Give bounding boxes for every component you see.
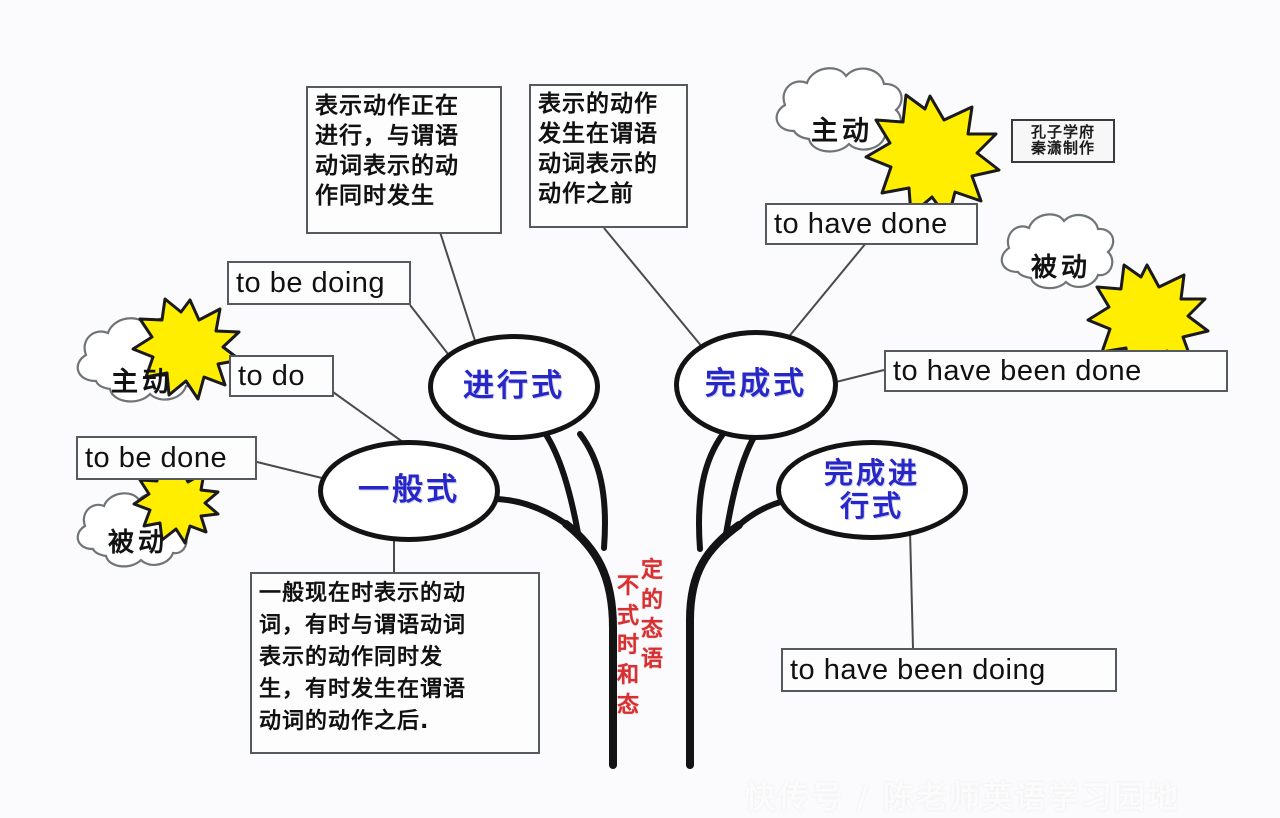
note-general-line-3: 表示的动作同时发 xyxy=(259,642,532,674)
trunk-char-l3: 时 xyxy=(617,631,639,661)
form-to-be-doing[interactable]: to be doing xyxy=(227,261,411,305)
note-perfect-line-1: 表示的动作 xyxy=(538,90,680,120)
cloud-active-right: 主动 xyxy=(778,90,906,168)
trunk-char-r4: 语 xyxy=(641,645,663,675)
form-to-do[interactable]: to do xyxy=(229,355,334,397)
form-to-have-done[interactable]: to have done xyxy=(765,203,978,245)
trunk-char-l5: 态 xyxy=(617,691,639,721)
creator-watermark-line-2: 秦潇制作 xyxy=(1031,141,1095,157)
note-perfect: 表示的动作 发生在谓语 动词表示的 动作之前 xyxy=(529,84,688,228)
form-to-have-done-label: to have done xyxy=(774,208,948,241)
trunk-char-l4: 和 xyxy=(617,661,639,691)
note-progressive-line-4: 作同时发生 xyxy=(315,182,494,212)
form-to-be-done[interactable]: to be done xyxy=(76,436,257,480)
trunk-char-r2: 的 xyxy=(641,586,663,616)
cloud-passive-left: 被动 xyxy=(78,505,198,577)
form-to-have-been-done[interactable]: to have been done xyxy=(884,350,1228,392)
note-general-line-1: 一般现在时表示的动 xyxy=(259,578,532,610)
form-to-have-been-doing-label: to have been doing xyxy=(790,654,1046,687)
node-progressive[interactable]: 进行式 xyxy=(428,334,600,440)
note-progressive-line-1: 表示动作正在 xyxy=(315,92,494,122)
creator-watermark-box: 孔子学府 秦潇制作 xyxy=(1011,119,1115,163)
note-perfect-line-3: 动词表示的 xyxy=(538,150,680,180)
tree-branches-left xyxy=(497,433,605,548)
form-to-have-been-doing[interactable]: to have been doing xyxy=(781,648,1117,692)
note-progressive-line-2: 进行，与谓语 xyxy=(315,122,494,152)
trunk-title: 定 的 态 语 不 式 时 和 态 xyxy=(617,556,663,720)
form-to-be-doing-label: to be doing xyxy=(236,267,385,300)
note-perfect-line-4: 动作之前 xyxy=(538,180,680,210)
cloud-passive-right: 被动 xyxy=(1000,230,1122,302)
note-progressive-line-3: 动词表示的动 xyxy=(315,152,494,182)
node-progressive-label: 进行式 xyxy=(463,369,565,405)
note-general-line-2: 词，有时与谓语动词 xyxy=(259,610,532,642)
node-general-label: 一般式 xyxy=(358,473,460,509)
node-perfect-label: 完成式 xyxy=(705,367,807,403)
note-general-line-5: 动词的动作之后. xyxy=(259,706,532,738)
trunk-char-r3: 态 xyxy=(641,615,663,645)
bottom-watermark: 快传号 / 陈老师英语学习园地 xyxy=(745,772,1180,817)
note-general: 一般现在时表示的动 词，有时与谓语动词 表示的动作同时发 生，有时发生在谓语 动… xyxy=(250,572,540,754)
node-perfect-progressive-label: 完成进 行式 xyxy=(824,457,920,524)
form-to-do-label: to do xyxy=(238,360,305,393)
note-perfect-line-2: 发生在谓语 xyxy=(538,120,680,150)
cloud-passive-left-label: 被动 xyxy=(78,505,198,577)
node-perfect-progressive[interactable]: 完成进 行式 xyxy=(776,440,968,540)
note-progressive: 表示动作正在 进行，与谓语 动词表示的动 作同时发生 xyxy=(306,86,502,234)
trunk-column-left: 不 式 时 和 态 xyxy=(617,556,639,720)
mindmap-canvas: .branch { fill:none; stroke:#131313; str… xyxy=(0,0,1280,818)
form-to-be-done-label: to be done xyxy=(85,442,227,475)
node-general[interactable]: 一般式 xyxy=(318,440,500,542)
trunk-char-l1: 不 xyxy=(617,572,639,602)
cloud-passive-right-label: 被动 xyxy=(1000,230,1122,302)
cloud-active-left-label: 主动 xyxy=(78,340,206,420)
trunk-char-r1: 定 xyxy=(641,556,663,586)
note-general-line-4: 生，有时发生在谓语 xyxy=(259,674,532,706)
cloud-active-right-label: 主动 xyxy=(778,90,906,168)
trunk-char-l2: 式 xyxy=(617,602,639,632)
trunk-column-right: 定 的 态 语 xyxy=(641,556,663,720)
node-perfect[interactable]: 完成式 xyxy=(674,330,838,440)
cloud-active-left: 主动 xyxy=(78,340,206,420)
form-to-have-been-done-label: to have been done xyxy=(893,355,1142,388)
